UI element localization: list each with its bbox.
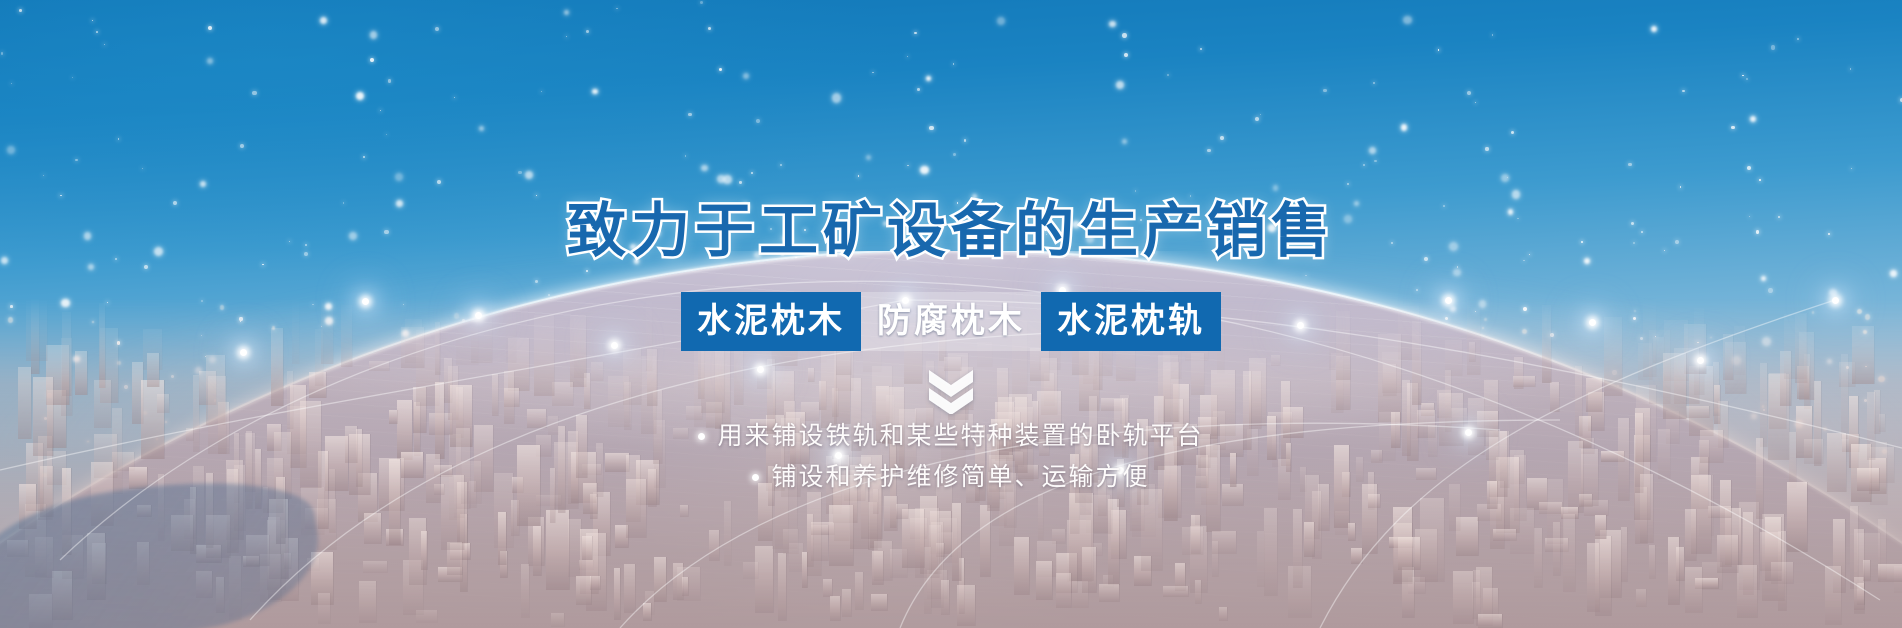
- hero-banner: 致力于工矿设备的生产销售 水泥枕木防腐枕木水泥枕轨 用来铺设铁轨和某些特种装置的…: [0, 0, 1902, 628]
- bullet-dot-icon: [698, 433, 705, 440]
- page-title: 致力于工矿设备的生产销售: [0, 202, 1902, 261]
- double-chevron-down-icon: [0, 368, 1902, 414]
- product-tag[interactable]: 水泥枕轨: [1041, 292, 1221, 351]
- product-tag-row: 水泥枕木防腐枕木水泥枕轨: [0, 292, 1902, 351]
- bullet-dot-icon: [752, 474, 759, 481]
- feature-point-list: 用来铺设铁轨和某些特种装置的卧轨平台铺设和养护维修简单、运输方便: [0, 416, 1902, 498]
- feature-point: 铺设和养护维修简单、运输方便: [0, 457, 1902, 498]
- product-tag[interactable]: 防腐枕木: [861, 292, 1041, 351]
- feature-point-label: 铺设和养护维修简单、运输方便: [771, 464, 1149, 491]
- feature-point-label: 用来铺设铁轨和某些特种装置的卧轨平台: [717, 423, 1203, 450]
- product-tag[interactable]: 水泥枕木: [681, 292, 861, 351]
- feature-point: 用来铺设铁轨和某些特种装置的卧轨平台: [0, 416, 1902, 457]
